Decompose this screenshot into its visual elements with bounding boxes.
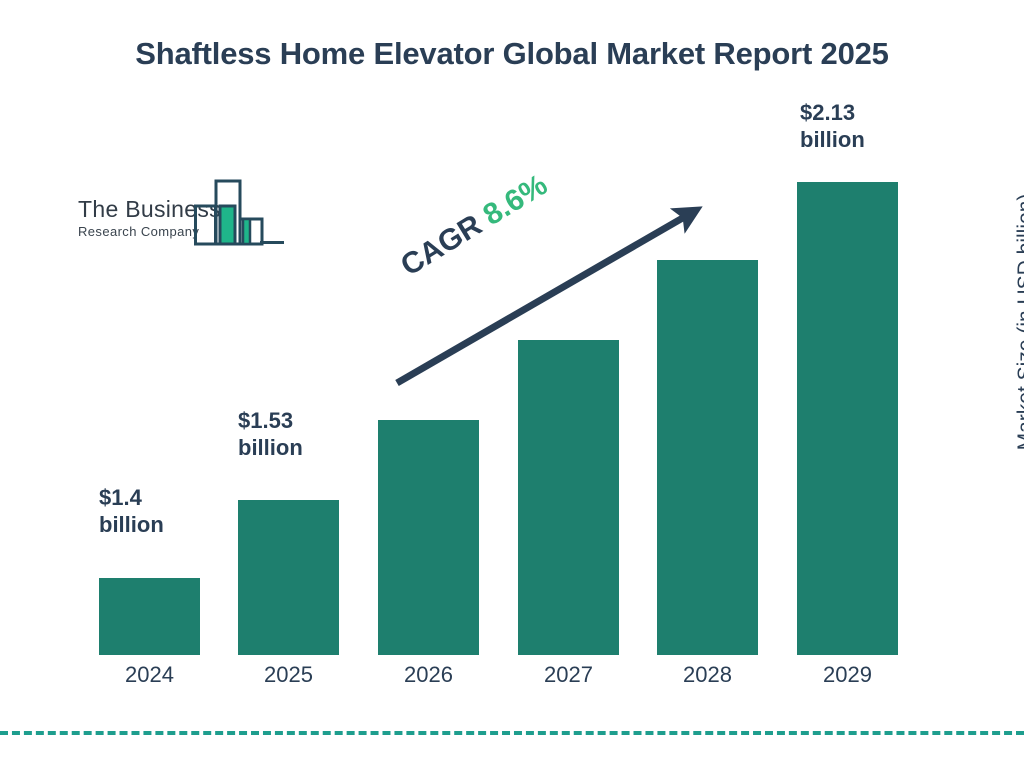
x-axis-label-2025: 2025	[238, 662, 339, 688]
bar-value-label-2025: $1.53 billion	[238, 408, 303, 462]
x-axis-label-2026: 2026	[378, 662, 479, 688]
x-axis-label-2028: 2028	[657, 662, 758, 688]
bar-value-label-2024: $1.4 billion	[99, 485, 164, 539]
bar-2028	[657, 260, 758, 655]
cagr-value: 8.6%	[478, 168, 554, 232]
bar-2027	[518, 340, 619, 655]
cagr-prefix: CAGR	[395, 208, 488, 282]
bar-2025	[238, 500, 339, 655]
x-axis-label-2027: 2027	[518, 662, 619, 688]
bar-2024	[99, 578, 200, 655]
bar-2029	[797, 182, 898, 655]
chart-canvas: Shaftless Home Elevator Global Market Re…	[0, 0, 1024, 768]
y-axis-title: Market Size (in USD billion)	[1014, 142, 1024, 502]
cagr-annotation: CAGR 8.6%	[395, 168, 554, 283]
bar-chart-plot: $1.4 billion $1.53 billion $2.13 billion…	[0, 0, 1024, 768]
bar-value-label-2029: $2.13 billion	[800, 100, 865, 154]
bar-2026	[378, 420, 479, 655]
footer-divider	[0, 731, 1024, 735]
x-axis-label-2024: 2024	[99, 662, 200, 688]
x-axis-label-2029: 2029	[797, 662, 898, 688]
